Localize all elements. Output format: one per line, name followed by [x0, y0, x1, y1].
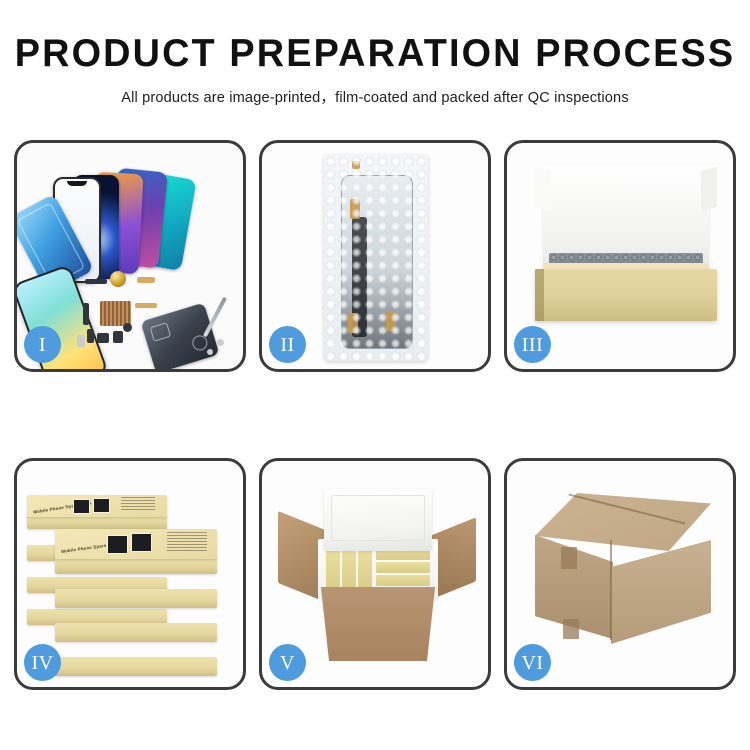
spare-part: [83, 303, 89, 325]
page-title: PRODUCT PREPARATION PROCESS: [11, 34, 739, 75]
spare-part: [207, 349, 213, 355]
stacked-box: [55, 657, 217, 676]
spare-part: [85, 279, 107, 284]
step-panel-3: III: [504, 140, 736, 372]
spare-part: [97, 333, 109, 343]
steps-grid: I II: [14, 140, 736, 690]
box-product-window: [73, 499, 90, 514]
step-badge-3: III: [514, 326, 551, 363]
step-badge-5: V: [269, 644, 306, 681]
spare-part: [77, 335, 85, 347]
spare-part: [87, 329, 94, 343]
phone-chassis-part: [141, 303, 220, 369]
spare-part: [217, 339, 224, 346]
spare-part: [123, 323, 132, 332]
box-product-window: [131, 533, 152, 552]
step-badge-1: I: [24, 326, 61, 363]
step-panel-2: II: [259, 140, 491, 372]
carton-right-face: [611, 540, 711, 644]
bubble-wrapped-part: [324, 155, 428, 361]
box-side-edge: [535, 269, 544, 321]
step-badge-2: II: [269, 326, 306, 363]
packed-kraft-box: [376, 575, 430, 586]
step-panel-4: Mobile Phone Spare Parts Mobile Phone Sp…: [14, 458, 246, 690]
carton-corner-edge: [610, 540, 612, 640]
spare-part: [135, 303, 157, 308]
carton-front-wall: [310, 587, 446, 661]
box-product-window: [93, 498, 110, 513]
step-panel-5: V: [259, 458, 491, 690]
page-subtitle: All products are image-printed，film-coat…: [0, 86, 750, 107]
bubble-film-overlay: [324, 155, 428, 361]
spare-part: [113, 331, 123, 343]
kraft-box-body: [535, 269, 717, 321]
carton-tape: [563, 619, 579, 639]
spare-part: [137, 277, 155, 283]
stacked-box: [55, 589, 217, 608]
carton-tape: [561, 547, 577, 569]
box-spec-lines: [167, 532, 207, 552]
step-badge-6: VI: [514, 644, 551, 681]
foam-lid: [324, 489, 432, 551]
step-badge-4: IV: [24, 644, 61, 681]
notch-icon: [67, 181, 87, 186]
box-product-window: [107, 535, 128, 554]
box-spec-lines: [121, 497, 155, 511]
stacked-box-top: Mobile Phone Spare Parts: [55, 529, 217, 559]
copper-coil-part: [110, 271, 126, 287]
step-panel-6: VI: [504, 458, 736, 690]
stacked-box-top: Mobile Phone Spare Parts: [27, 495, 167, 517]
stacked-box: [55, 623, 217, 642]
packed-kraft-box: [376, 562, 430, 573]
step-panel-1: I: [14, 140, 246, 372]
product-preparation-infographic: PRODUCT PREPARATION PROCESS All products…: [0, 0, 750, 750]
header: PRODUCT PREPARATION PROCESS All products…: [0, 0, 750, 107]
